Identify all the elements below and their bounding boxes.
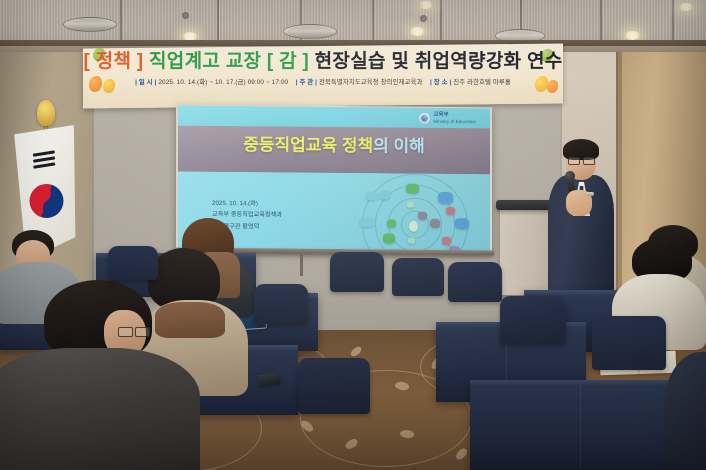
chair — [108, 246, 158, 280]
table-skirt-fold — [580, 385, 581, 470]
slide-meta-dept: 교육부 중등직업교육정책과 — [212, 209, 282, 221]
ceiling-downlight — [624, 31, 641, 40]
smartphone — [257, 373, 280, 386]
glasses-lens — [135, 327, 150, 337]
banner-title: [ 정책 ] 직업계고 교장 [ 감 ] 현장실습 및 취업역량강화 연수 — [83, 52, 563, 71]
audience-torso — [0, 348, 200, 470]
diagram-node — [360, 217, 373, 227]
banner-subtitle: | 일 시 | 2025. 10. 14.(화) ~ 10. 17.(금) 09… — [83, 80, 563, 86]
banner-host-label: | 주 관 | — [296, 79, 317, 86]
diagram-node — [446, 207, 455, 215]
chair — [500, 296, 566, 344]
diagram-node — [366, 192, 377, 200]
diagram-node — [418, 212, 427, 220]
diagram-node — [442, 237, 451, 245]
chair — [592, 316, 666, 370]
taeguk-symbol — [23, 178, 70, 225]
diagram-node — [408, 238, 415, 244]
flag-trigram-bar — [33, 150, 55, 156]
glasses-lens — [118, 327, 133, 337]
audience-glasses — [118, 327, 148, 333]
chair — [392, 258, 444, 296]
flag-trigram-bar — [33, 162, 55, 168]
banner-title-dark: 현장실습 및 취업역량강화 연수 — [315, 51, 563, 72]
screen-stand-leg — [300, 252, 303, 276]
glasses-lens — [583, 157, 595, 165]
diagram-node-center — [409, 221, 418, 232]
diagram-node — [438, 192, 453, 204]
chair — [448, 262, 502, 302]
moe-emblem-icon — [419, 113, 430, 124]
moe-logo-sub: Ministry of Education — [433, 119, 476, 124]
flag-trigram-bar — [33, 156, 55, 162]
wristwatch — [586, 192, 594, 196]
slide-title-main: 중등직업교육 정책 — [243, 135, 373, 155]
slide-title: 중등직업교육 정책의 이해 — [178, 136, 490, 156]
air-diffuser — [283, 24, 337, 39]
chair — [330, 252, 384, 292]
slide-meta-date: 2025. 10. 14.(화) — [212, 198, 282, 210]
banner-date-label: | 일 시 | — [135, 79, 156, 86]
slide-title-rest: 의 이해 — [373, 136, 425, 155]
diagram-node — [430, 219, 440, 228]
diagram-node — [379, 190, 390, 199]
air-diffuser — [63, 17, 117, 32]
carpet-petal — [349, 345, 363, 358]
sprinkler-head — [420, 15, 427, 22]
ceiling-downlight — [678, 3, 694, 11]
chair — [298, 358, 370, 414]
carpet-petal — [454, 447, 469, 461]
banner-host-value: 전북특별자치도교육청 창의인재교육과 — [319, 79, 423, 86]
glasses-lens — [568, 157, 580, 165]
banner-policy-tag: [ 정책 ] — [83, 51, 143, 72]
moe-logo-text: 교육부 Ministry of Education — [433, 112, 476, 125]
seminar-photo: [ 정책 ] 직업계고 교장 [ 감 ] 현장실습 및 취업역량강화 연수 | … — [0, 0, 706, 470]
ceiling-downlight — [409, 27, 426, 36]
banner-date-value: 2025. 10. 14.(화) ~ 10. 17.(금) 09:00 ~ 17… — [158, 79, 288, 86]
banner-place-value: 진주 라한호텔 마루홀 — [453, 79, 511, 86]
ministry-of-education-logo: 교육부 Ministry of Education — [419, 112, 476, 125]
diagram-node — [455, 218, 469, 229]
diagram-node — [383, 233, 395, 243]
diagram-node — [407, 202, 414, 208]
banner-title-green: 직업계고 교장 [ 감 ] — [149, 51, 309, 72]
slide-network-diagram — [356, 179, 474, 250]
presenter-glasses — [568, 157, 594, 163]
chair — [254, 284, 308, 324]
ceiling-downlight — [418, 1, 434, 9]
diagram-node — [406, 184, 419, 194]
event-banner: [ 정책 ] 직업계고 교장 [ 감 ] 현장실습 및 취업역량강화 연수 | … — [83, 43, 563, 108]
diagram-node — [387, 219, 396, 227]
audience-fur-collar — [155, 302, 225, 338]
banner-place-label: | 장 소 | — [430, 79, 451, 86]
sprinkler-head — [182, 12, 189, 19]
flag-finial-ornament — [37, 100, 55, 126]
